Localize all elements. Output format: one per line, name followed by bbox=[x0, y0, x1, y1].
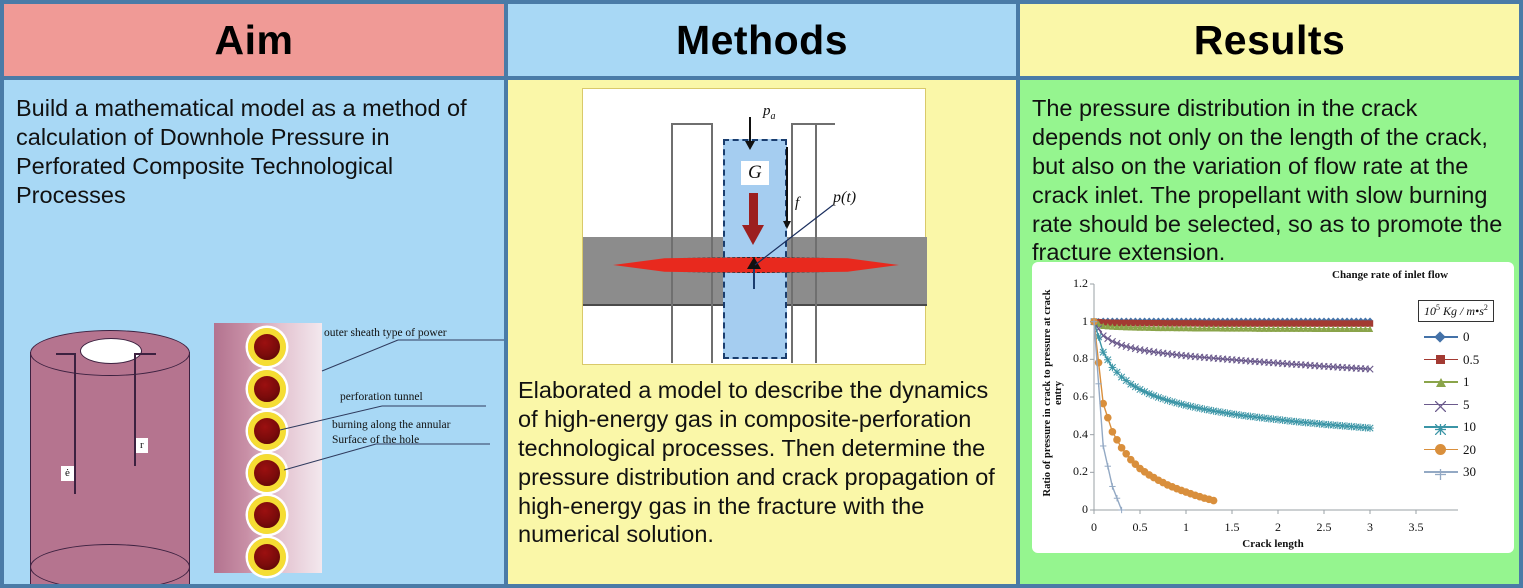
column-title-methods: Methods bbox=[676, 20, 848, 61]
chart-legend: 00.515102030 bbox=[1424, 326, 1479, 484]
legend-item-label: 5 bbox=[1463, 397, 1470, 413]
column-header-aim: Aim bbox=[4, 4, 504, 80]
legend-item-label: 30 bbox=[1463, 464, 1476, 480]
poster-root: Aim Build a mathematical model as a meth… bbox=[0, 0, 1523, 588]
perforation-callout-outer-sheath: outer sheath type of power bbox=[324, 326, 447, 341]
legend-marker-icon bbox=[1424, 330, 1458, 344]
column-header-results: Results bbox=[1020, 4, 1519, 80]
column-body-aim: Build a mathematical model as a method o… bbox=[4, 80, 504, 584]
cylinder-leader-left-top bbox=[56, 353, 76, 355]
column-header-methods: Methods bbox=[508, 4, 1016, 80]
legend-marker-icon bbox=[1424, 375, 1458, 389]
label-crack-pressure: p(t) bbox=[833, 189, 856, 207]
legend-item-label: 0 bbox=[1463, 329, 1470, 345]
chart-legend-item[interactable]: 1 bbox=[1424, 371, 1479, 394]
legend-item-label: 0.5 bbox=[1463, 352, 1479, 368]
results-chart: Change rate of inlet flow Ratio of press… bbox=[1032, 262, 1514, 553]
legend-marker-icon bbox=[1424, 353, 1458, 367]
cylinder-bore-hole bbox=[80, 338, 142, 364]
column-body-results: The pressure distribution in the crack d… bbox=[1020, 80, 1519, 584]
cylinder-leader-left bbox=[74, 354, 76, 494]
legend-marker-icon bbox=[1424, 398, 1458, 412]
chart-legend-item[interactable]: 30 bbox=[1424, 461, 1479, 484]
legend-marker-icon bbox=[1424, 465, 1458, 479]
aim-body-text: Build a mathematical model as a method o… bbox=[16, 94, 492, 210]
chart-legend-item[interactable]: 0.5 bbox=[1424, 349, 1479, 372]
column-title-results: Results bbox=[1194, 20, 1346, 61]
chart-legend-item[interactable]: 10 bbox=[1424, 416, 1479, 439]
chart-legend-item[interactable]: 20 bbox=[1424, 439, 1479, 462]
column-title-aim: Aim bbox=[215, 20, 294, 61]
legend-item-label: 1 bbox=[1463, 374, 1470, 390]
column-results: Results The pressure distribution in the… bbox=[1016, 0, 1523, 588]
cylinder-bottom-ellipse bbox=[30, 544, 190, 588]
cylinder-leader-right-top bbox=[134, 353, 156, 355]
aim-figure-group: ė r bbox=[4, 218, 504, 584]
results-body-text: The pressure distribution in the crack d… bbox=[1032, 94, 1507, 267]
perforation-callout-tunnel: perforation tunnel bbox=[340, 390, 423, 405]
column-methods: Methods pa G f bbox=[508, 0, 1016, 588]
methods-body-text: Elaborated a model to describe the dynam… bbox=[518, 376, 1006, 549]
legend-item-label: 20 bbox=[1463, 442, 1476, 458]
wellbore-crack-diagram: pa G f p(t) bbox=[582, 88, 926, 365]
chart-legend-item[interactable]: 0 bbox=[1424, 326, 1479, 349]
column-aim: Aim Build a mathematical model as a meth… bbox=[0, 0, 508, 588]
legend-item-label: 10 bbox=[1463, 419, 1476, 435]
column-body-methods: pa G f p(t) Elaborated a model to descri… bbox=[508, 80, 1016, 584]
chart-legend-unit: 105 Kg / m•s2 bbox=[1418, 300, 1494, 322]
perforation-callout-burning: burning along the annular Surface of the… bbox=[332, 418, 450, 448]
crack-pressure-leader-line bbox=[583, 89, 927, 366]
cylinder-label-burn-rate: ė bbox=[61, 466, 74, 481]
legend-marker-icon bbox=[1424, 443, 1458, 457]
perforation-leader-lines bbox=[214, 318, 508, 588]
legend-marker-icon bbox=[1424, 420, 1458, 434]
cylinder-label-radius: r bbox=[136, 438, 148, 453]
perforation-diagram: outer sheath type of power perforation t… bbox=[214, 318, 508, 588]
chart-legend-item[interactable]: 5 bbox=[1424, 394, 1479, 417]
cylinder-diagram: ė r bbox=[30, 330, 190, 588]
